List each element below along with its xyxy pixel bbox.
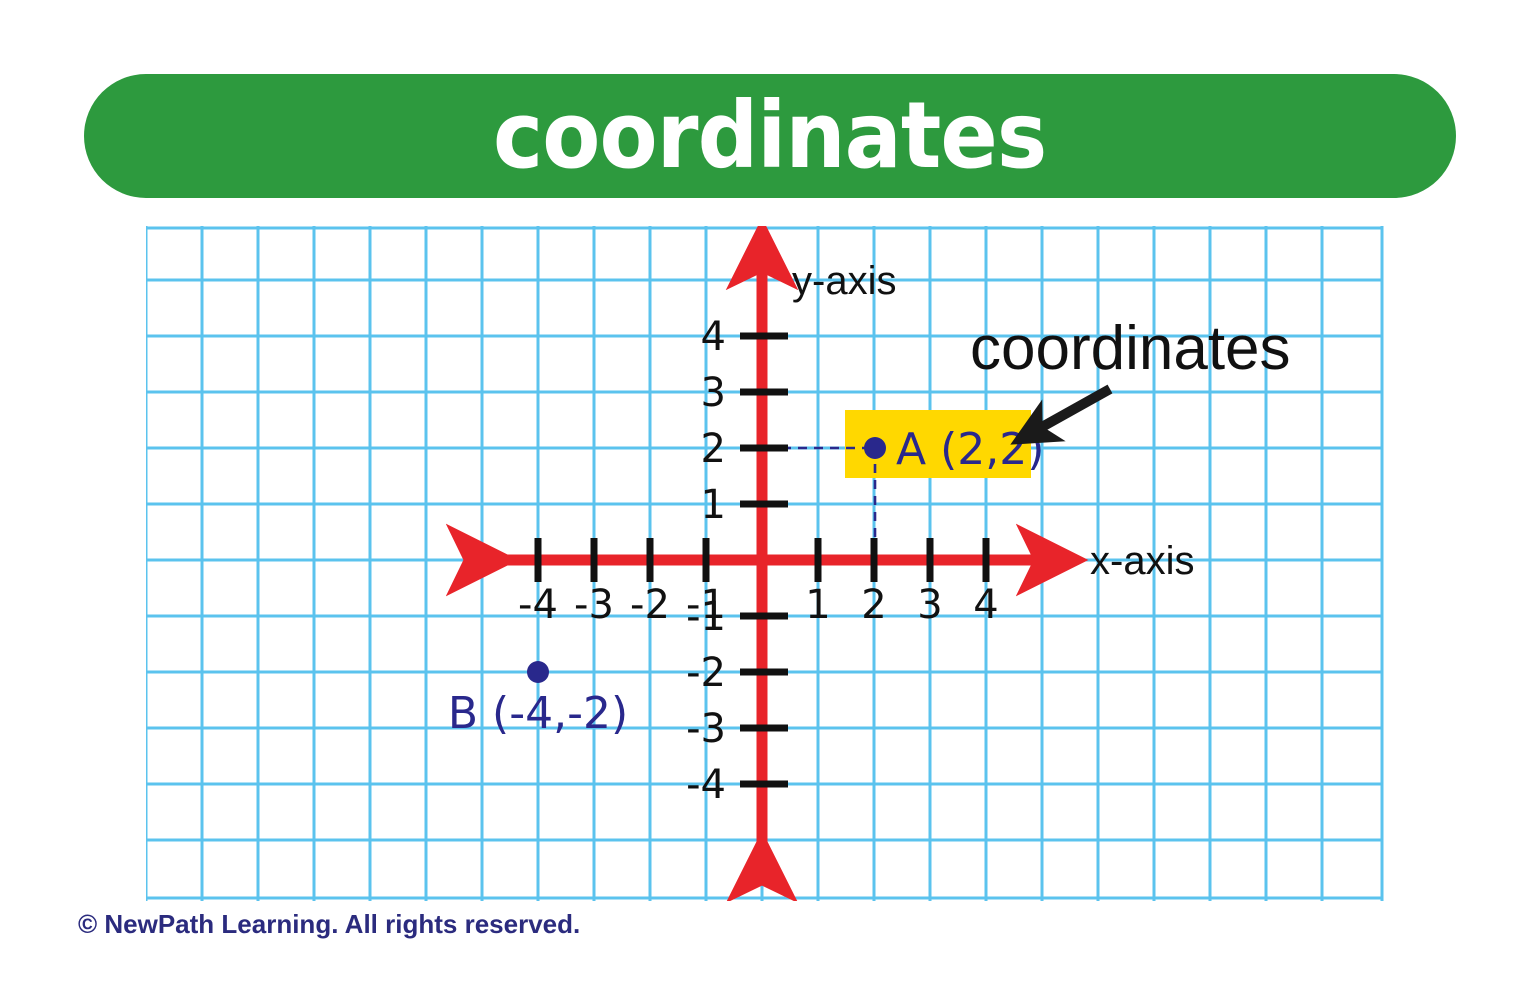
y-tick-label: -1 [686,594,726,640]
x-tick-label: -4 [518,582,558,628]
x-tick-label: 3 [917,582,942,628]
data-point-a-label: A (2,2) [896,424,1044,475]
title-banner: coordinates [84,74,1456,198]
x-tick-label: 4 [973,582,998,628]
coordinate-plane-figure: -4 -3 -2 -1 1 2 3 4 4 3 2 1 -1 -2 -3 -4 [146,226,1384,901]
worksheet-card: coordinates [0,0,1520,1000]
x-tick-label: -2 [630,582,670,628]
x-tick-label: 1 [805,582,830,628]
copyright-notice: © NewPath Learning. All rights reserved. [78,909,580,940]
x-axis-label: x-axis [1090,539,1194,583]
y-tick-label: -2 [686,650,726,696]
page-title: coordinates [493,90,1046,182]
y-tick-label: 3 [701,370,726,416]
y-tick-label: 2 [701,426,726,472]
y-axis-label: y-axis [792,259,896,303]
axes [481,255,1051,868]
y-tick-label: -3 [686,706,726,752]
y-tick-label: -4 [686,762,726,808]
x-tick-label: -3 [574,582,614,628]
y-tick-label: 4 [701,314,726,360]
coordinates-callout-label: coordinates [970,314,1291,383]
x-tick-label: 2 [861,582,886,628]
data-point-b-label: B (-4,-2) [448,688,628,739]
y-tick-label: 1 [701,482,726,528]
